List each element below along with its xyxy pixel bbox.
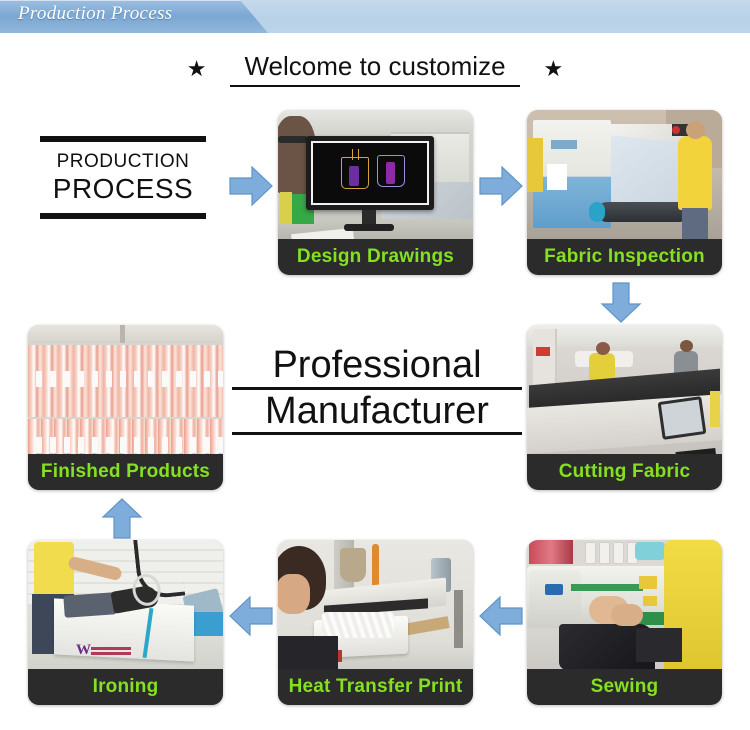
arrow-right-to-design (228, 163, 274, 209)
wordmark-line-1: PRODUCTION (40, 151, 206, 173)
card-label-text: Cutting Fabric (559, 461, 691, 483)
welcome-banner: ★ Welcome to customize ★ (0, 48, 750, 90)
card-label-ironing: Ironing (28, 669, 223, 705)
card-label-text: Ironing (93, 676, 159, 698)
wordmark-line-2: PROCESS (40, 173, 206, 205)
welcome-text: Welcome to customize (230, 51, 519, 87)
wordmark-rule-top (40, 136, 206, 142)
card-label-design: Design Drawings (278, 239, 473, 275)
card-label-heat: Heat Transfer Print (278, 669, 473, 705)
process-card-heat-transfer-print[interactable]: Heat Transfer Print (278, 540, 473, 705)
arrow-right-to-fabric (478, 163, 524, 209)
star-icon-left: ★ (187, 58, 207, 80)
arrow-up-to-finished-products (99, 497, 145, 539)
arrow-left-to-ironing (228, 593, 274, 639)
arrow-left-to-heat-transfer (478, 593, 524, 639)
page-title: Production Process (18, 3, 172, 25)
card-label-text: Fabric Inspection (544, 246, 705, 268)
process-card-cutting-fabric[interactable]: Cutting Fabric (527, 325, 722, 490)
headline-line-1: Professional (232, 344, 522, 390)
process-card-finished-products[interactable]: Finished Products (28, 325, 223, 490)
process-card-sewing[interactable]: Sewing (527, 540, 722, 705)
wordmark-rule-bottom (40, 213, 206, 219)
process-card-design[interactable]: Design Drawings (278, 110, 473, 275)
headline-line-2: Manufacturer (232, 390, 522, 436)
card-label-finished: Finished Products (28, 454, 223, 490)
header-band: Production Process (0, 0, 750, 33)
card-label-cutting: Cutting Fabric (527, 454, 722, 490)
card-label-text: Heat Transfer Print (289, 676, 463, 698)
arrow-down-to-cutting (598, 282, 644, 324)
production-process-wordmark: PRODUCTION PROCESS (40, 136, 206, 219)
card-label-text: Sewing (591, 676, 659, 698)
card-label-sewing: Sewing (527, 669, 722, 705)
process-card-ironing[interactable]: Ironing (28, 540, 223, 705)
headline-block: Professional Manufacturer (232, 344, 522, 435)
card-label-text: Finished Products (41, 461, 210, 483)
process-card-fabric-inspection[interactable]: Fabric Inspection (527, 110, 722, 275)
card-label-fabric: Fabric Inspection (527, 239, 722, 275)
card-label-text: Design Drawings (297, 246, 454, 268)
star-icon-right: ★ (544, 58, 564, 80)
